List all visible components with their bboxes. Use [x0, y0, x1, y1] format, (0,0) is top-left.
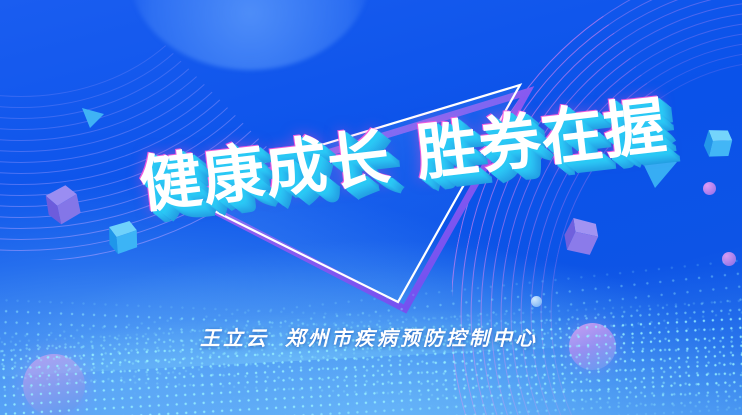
presenter-name: 王立云	[200, 326, 269, 350]
cube-cyan-top-right-icon	[700, 127, 736, 165]
presentation-slide: 健康成长胜券在握 王立云郑州市疾病预防控制中心	[0, 0, 742, 415]
slide-subtitle: 王立云郑州市疾病预防控制中心	[200, 322, 538, 351]
cube-purple-right-icon	[556, 215, 604, 263]
cube-purple-small-icon	[40, 183, 86, 231]
organization-name: 郑州市疾病预防控制中心	[285, 326, 538, 350]
sphere-small-pink-icon	[703, 182, 716, 195]
triangle-cyan-left-icon	[80, 104, 106, 130]
cube-cyan-icon	[104, 219, 144, 261]
title-spacer	[393, 175, 419, 178]
